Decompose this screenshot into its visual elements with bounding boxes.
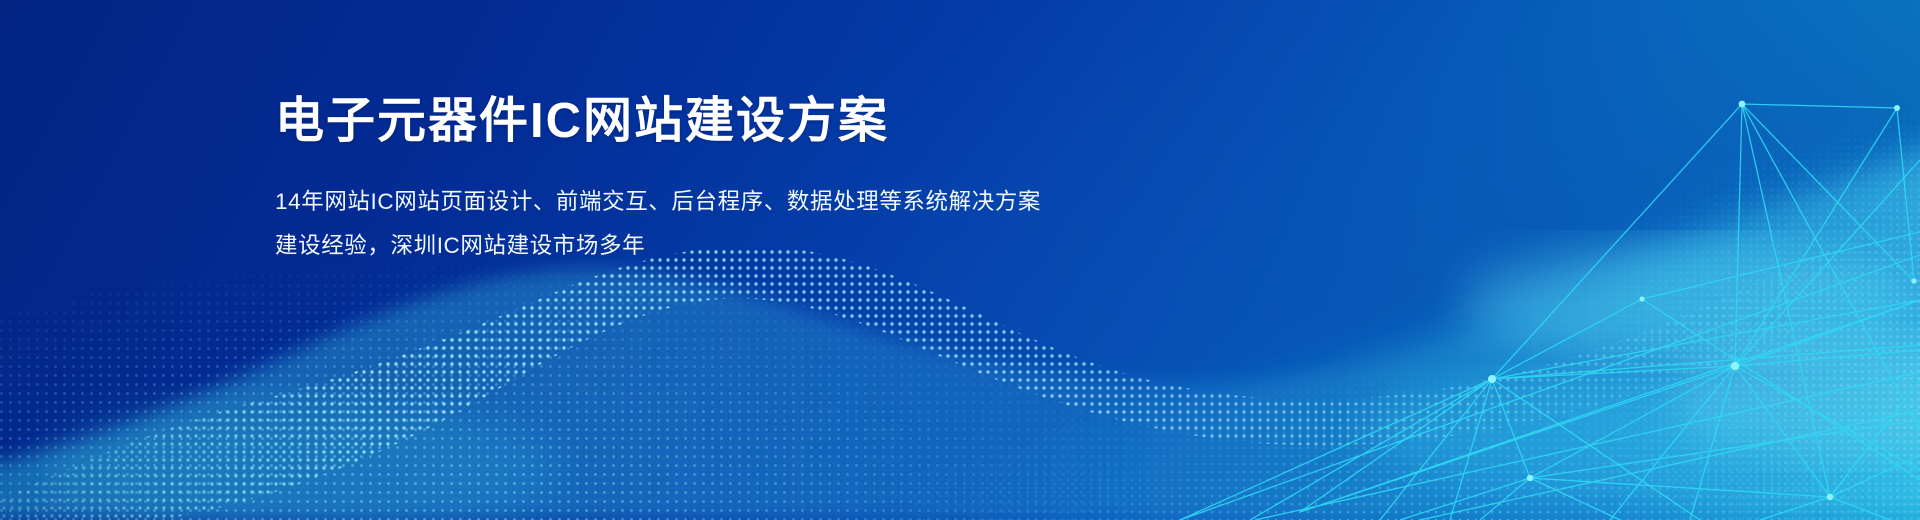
subtitle-line-2: 建设经验，深圳IC网站建设市场多年 [275,224,1041,268]
page-title: 电子元器件IC网站建设方案 [275,92,1041,152]
subtitle-line-1: 14年网站IC网站页面设计、前端交互、后台程序、数据处理等系统解决方案 [275,180,1041,224]
network-nodes [1488,101,1917,501]
hero-banner: 电子元器件IC网站建设方案 14年网站IC网站页面设计、前端交互、后台程序、数据… [0,0,1920,520]
network-edges [1180,104,1920,520]
subtitle-block: 14年网站IC网站页面设计、前端交互、后台程序、数据处理等系统解决方案 建设经验… [275,180,1041,268]
banner-text-block: 电子元器件IC网站建设方案 14年网站IC网站页面设计、前端交互、后台程序、数据… [275,92,1041,268]
